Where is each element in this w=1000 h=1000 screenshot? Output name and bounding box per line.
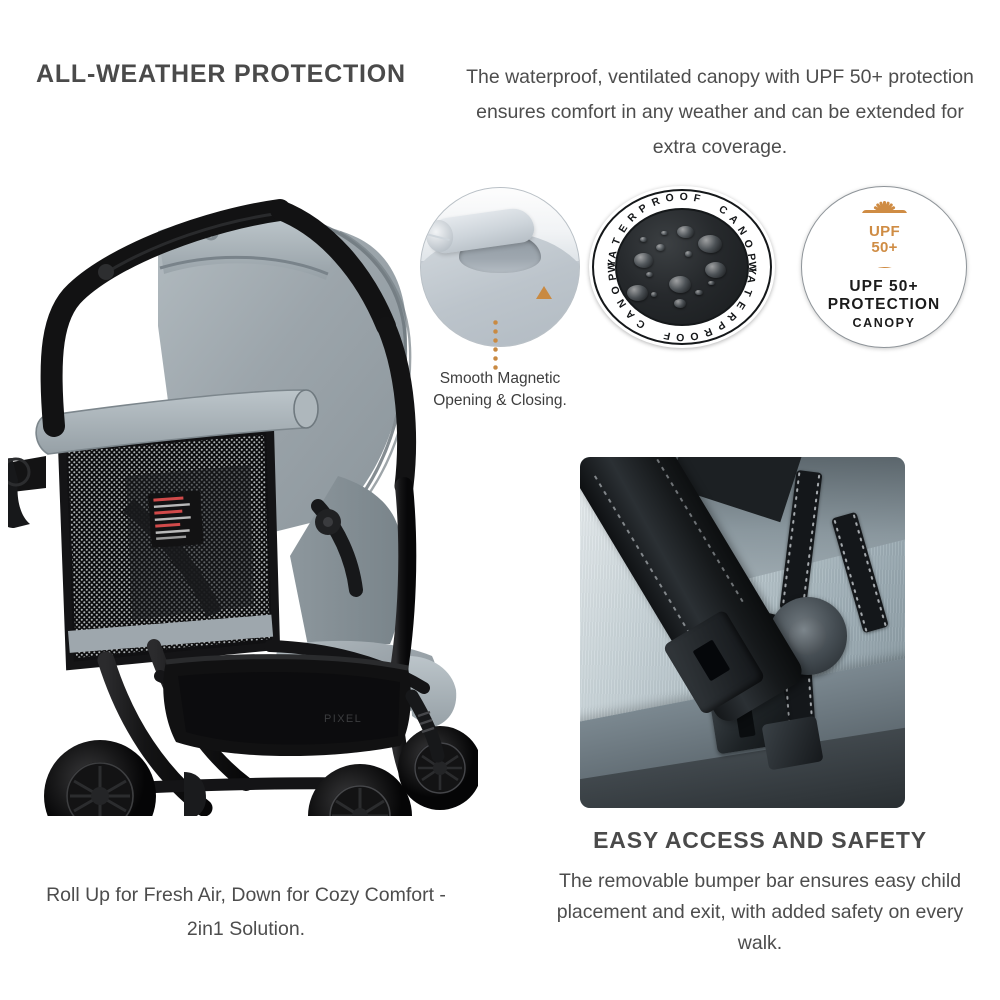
upf-badge-caption: UPF 50+ PROTECTION CANOPY: [828, 278, 941, 330]
rear-wheel: [44, 740, 156, 816]
up-arrow-icon: [536, 286, 552, 299]
basket-brand-text: PIXEL: [324, 713, 362, 725]
all-weather-protection-heading: ALL-WEATHER PROTECTION: [36, 60, 406, 89]
all-weather-protection-description: The waterproof, ventilated canopy with U…: [462, 60, 978, 165]
shield-label: UPF 50+: [862, 213, 907, 267]
upf-caption-line-2: PROTECTION: [828, 296, 941, 314]
water-droplet: [646, 272, 654, 278]
stroller-product-photo: PIXEL: [8, 176, 478, 816]
water-droplet: [677, 226, 694, 239]
front-wheel-inner: [308, 764, 412, 816]
upf-sun-shield-icon: UPF 50+: [845, 204, 923, 272]
fold-hinge-pin: [323, 517, 333, 527]
water-droplet: [627, 285, 648, 301]
magnetic-closure-caption: Smooth Magnetic Opening & Closing.: [420, 368, 580, 412]
upf-protection-badge: UPF 50+ UPF 50+ PROTECTION CANOPY: [801, 186, 967, 348]
upf-caption-line-3: CANOPY: [828, 316, 941, 330]
basket-side-shade: [178, 672, 400, 744]
water-droplet: [634, 253, 654, 268]
water-droplet: [651, 292, 658, 297]
water-droplet: [669, 276, 691, 293]
water-droplet: [708, 281, 715, 286]
water-droplet: [698, 235, 723, 253]
brake-pedal: [184, 772, 206, 816]
upf-mark-line-2: 50+: [871, 240, 897, 256]
water-droplet: [685, 251, 693, 257]
roll-up-caption: Roll Up for Fresh Air, Down for Cozy Com…: [36, 878, 456, 946]
water-droplet: [656, 244, 665, 251]
flap-roll-end: [294, 390, 318, 428]
dotted-leader-line: [493, 318, 498, 374]
upf-caption-line-1: UPF 50+: [828, 278, 941, 296]
warning-label: [148, 490, 204, 547]
water-droplet: [705, 262, 726, 278]
water-droplet: [674, 299, 686, 308]
water-droplet: [640, 237, 647, 242]
easy-access-heading: EASY ACCESS AND SAFETY: [560, 827, 960, 854]
waterproof-canopy-badge: WATERPROOF CANOPY WATERPROOF CANOPY: [589, 186, 775, 348]
frame-front-leg: [396, 486, 407, 688]
water-droplet: [695, 290, 703, 296]
upf-mark-line-1: UPF: [869, 224, 900, 240]
water-droplet: [661, 231, 668, 236]
easy-access-description: The removable bumper bar ensures easy ch…: [556, 866, 964, 959]
bumper-bar-closeup-photo: [580, 457, 905, 808]
handle-adjust-button: [98, 264, 114, 280]
product-feature-page: ALL-WEATHER PROTECTION The waterproof, v…: [0, 0, 1000, 1000]
magnetic-closure-detail-photo: [421, 188, 579, 346]
waterproof-fabric-swatch: [615, 208, 749, 326]
